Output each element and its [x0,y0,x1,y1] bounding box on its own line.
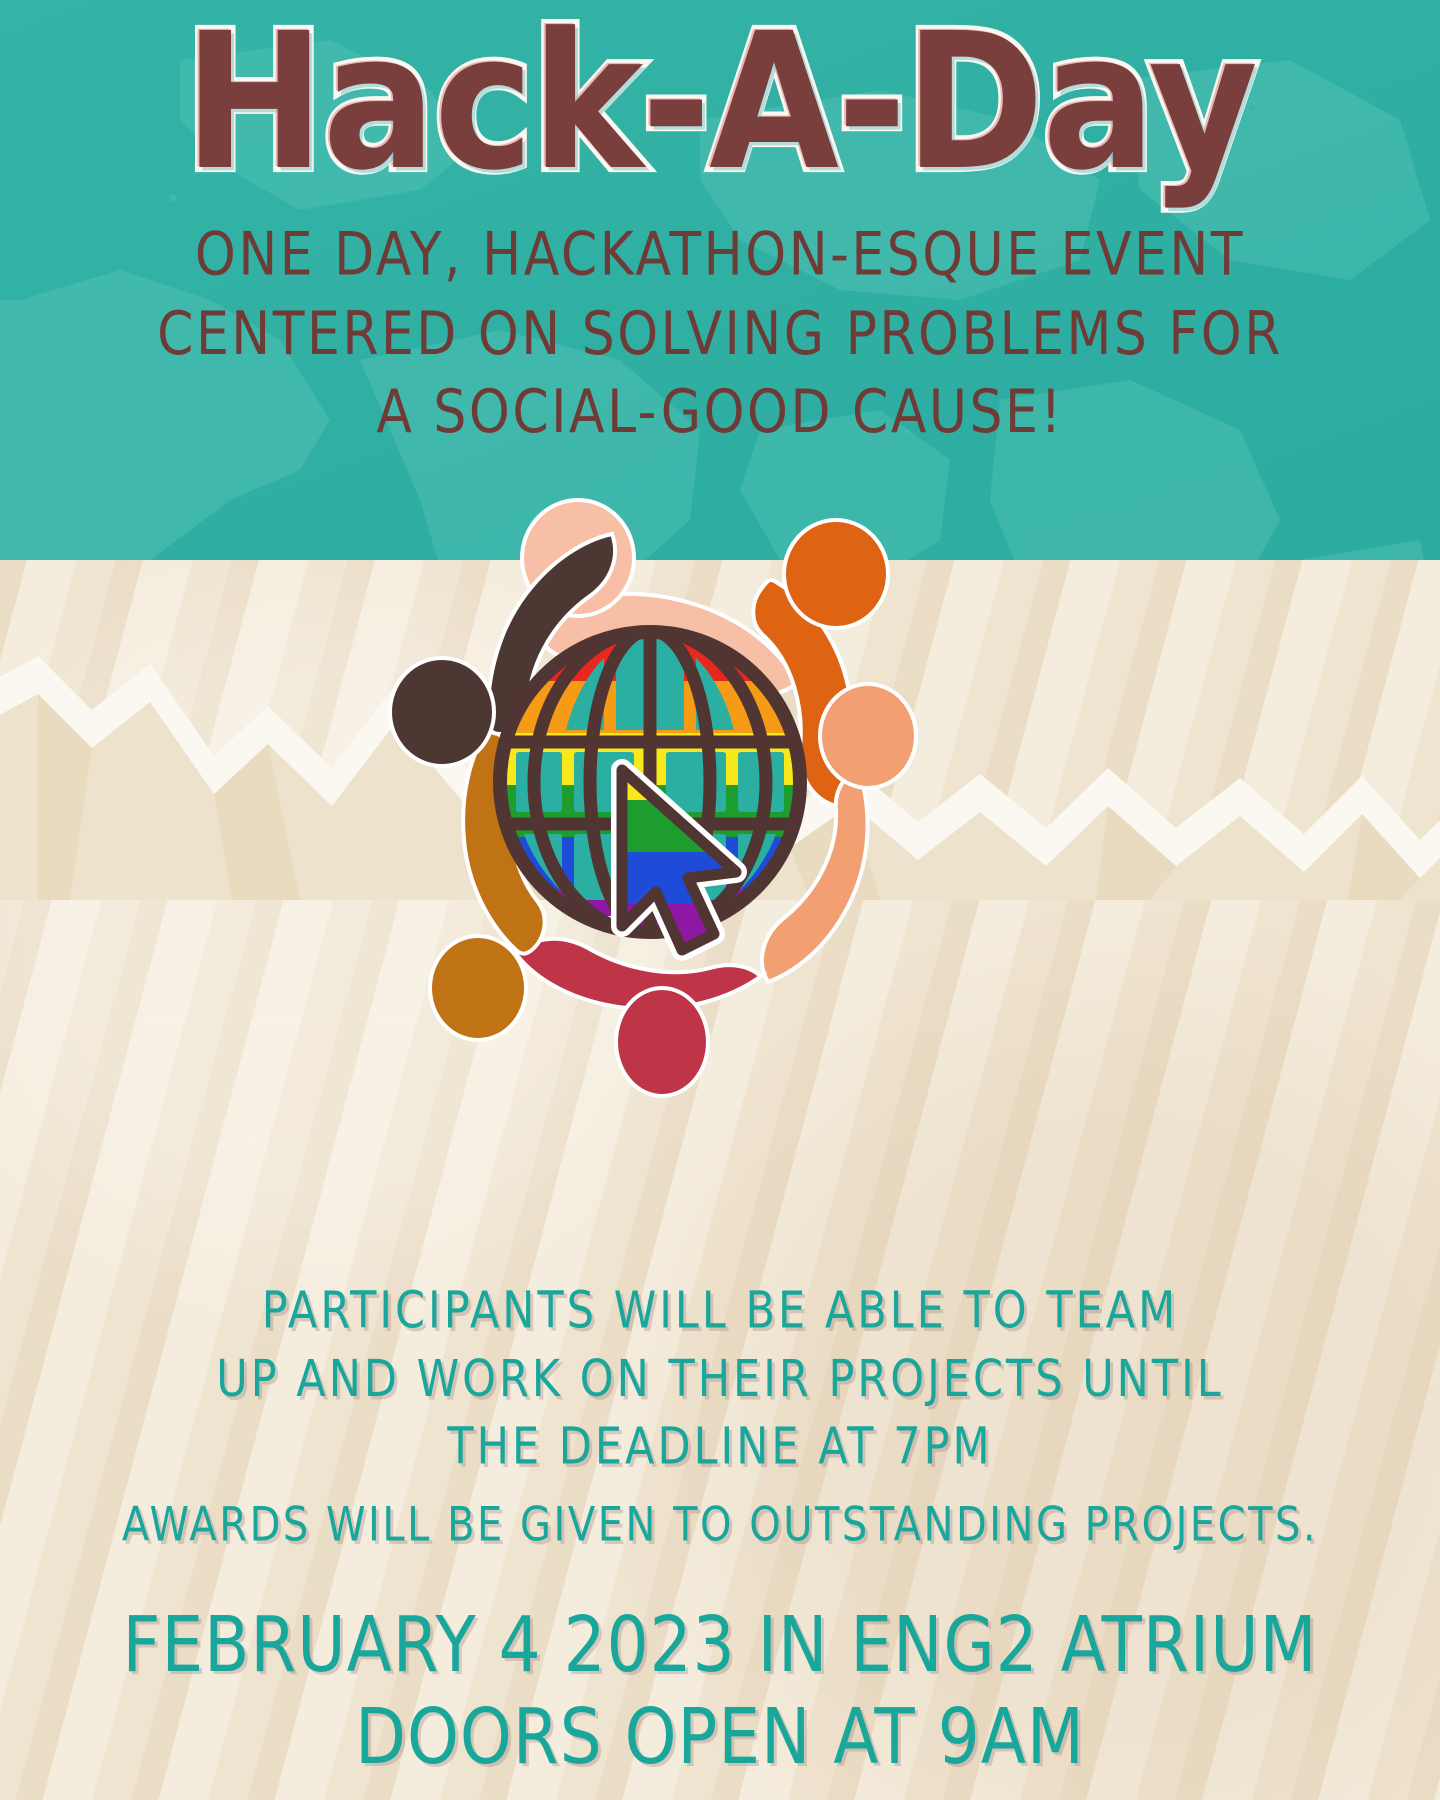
participants-line-3: the deadline at 7pm [0,1414,1440,1482]
participants-line-2: up and work on their projects until [0,1346,1440,1414]
subtitle-line-1: One day, hackathon-esque event [0,216,1440,295]
participants-paragraph: Participants will be able to team up and… [0,1278,1440,1482]
awards-line: Awards will be given to outstanding proj… [0,1498,1440,1552]
participants-line-1: Participants will be able to team [0,1278,1440,1346]
poster-canvas: Hack-A-Day One day, hackathon-esque even… [0,0,1440,1800]
person-crimson [516,939,765,1096]
page-title: Hack-A-Day [0,8,1440,196]
doors-open-time: Doors open at 9am [0,1692,1440,1781]
subtitle-line-3: a social-good cause! [0,374,1440,453]
subtitle-block: One day, hackathon-esque event centered … [0,216,1440,453]
subtitle-line-2: centered on solving problems for [0,295,1440,374]
people-circle-artwork [300,430,1000,1130]
event-date-venue: February 4 2023 in ENG2 Atrium [0,1600,1440,1689]
